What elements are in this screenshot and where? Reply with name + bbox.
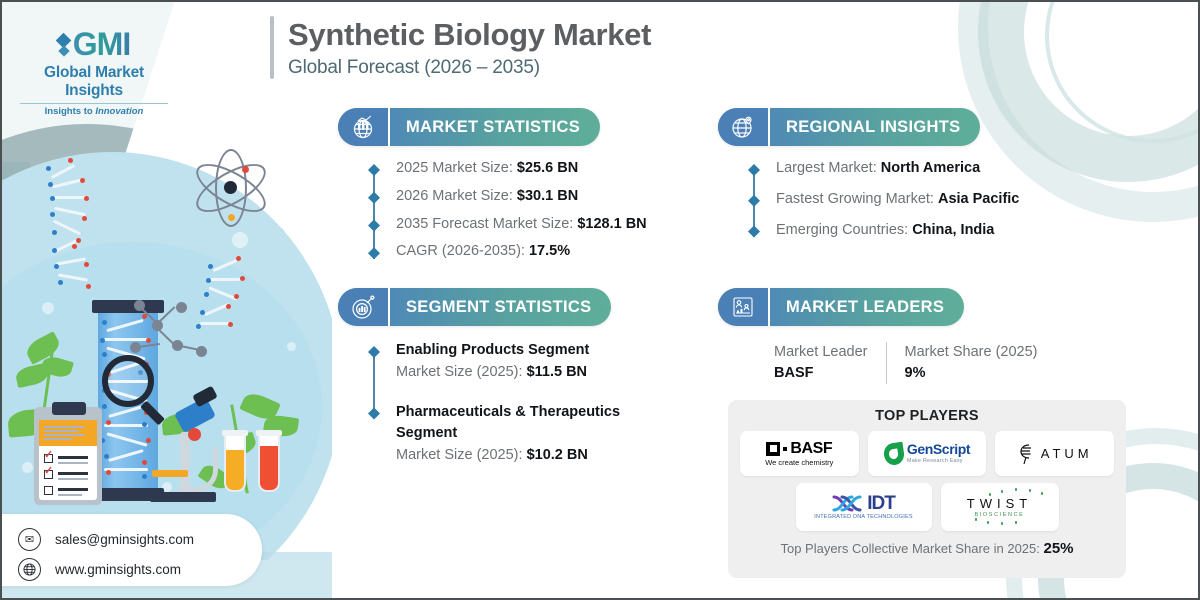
item-value: 17.5% [529,243,570,259]
logo-initials: GMI [73,26,130,63]
column-value: BASF [774,363,868,384]
page-title: Synthetic Biology Market [288,16,651,55]
contact-panel: ✉ sales@gminsights.com www.gminsights.co… [0,514,262,586]
top-players-row-2: IDT INTEGRATED DNA TECHNOLOGIES TWIST BI… [740,483,1114,531]
genscript-leaf-icon [882,441,905,466]
list-item: Emerging Countries: China, India [748,220,1148,242]
contact-email-row[interactable]: ✉ sales@gminsights.com [18,524,262,554]
column-header: Market Share (2025) [905,342,1038,363]
atum-swirl-icon [1017,443,1037,465]
player-tagline: Make Research Easy [907,459,970,465]
contact-email[interactable]: sales@gminsights.com [55,532,194,547]
podium-chart-icon [718,288,770,326]
list-item: 2035 Forecast Market Size: $128.1 BN [368,214,698,236]
item-value: $25.6 BN [517,160,578,176]
decor-ring-thin [1045,2,1198,143]
item-label: Market Size (2025): [396,364,527,380]
badge-label: SEGMENT STATISTICS [390,298,611,317]
logo-tagline: Insights to Innovation [14,106,174,117]
list-item: Enabling Products Segment Market Size (2… [368,340,698,384]
bullet-diamond-icon [368,220,380,232]
bullet-diamond-icon [368,164,380,176]
infographic-page: ✓ ✓ [0,0,1200,600]
twist-dot-icon [1041,492,1044,495]
list-item: 2025 Market Size: $25.6 BN [368,158,698,180]
item-label: 2026 Market Size: [396,188,517,204]
item-value: $10.2 BN [527,447,588,463]
list-segment-statistics: Enabling Products Segment Market Size (2… [368,340,698,473]
decor-ring-top-right [978,2,1198,182]
item-label: Fastest Growing Market: [776,191,938,207]
globe-chart-icon [338,108,390,146]
column-header: Market Leader [774,342,868,363]
twist-dot-icon [1029,489,1032,492]
list-market-statistics: 2025 Market Size: $25.6 BN 2026 Market S… [368,158,698,269]
top-players-title: TOP PLAYERS [740,408,1114,424]
player-tagline: INTEGRATED DNA TECHNOLOGIES [814,515,912,521]
top-players-footer: Top Players Collective Market Share in 2… [740,540,1114,557]
magnifier-icon [102,355,154,407]
badge-regional-insights[interactable]: REGIONAL INSIGHTS [718,108,980,146]
segment-heading: Enabling Products Segment [396,340,698,362]
twist-dot-icon [987,521,990,524]
illustration-scene: ✓ ✓ [2,152,332,512]
item-label: 2035 Forecast Market Size: [396,216,577,232]
market-leader-column: Market Leader BASF [774,342,886,384]
clipboard: ✓ ✓ [34,407,102,505]
bullet-diamond-icon [368,247,380,259]
player-tagline: We create chemistry [765,459,833,467]
diamond-icon [58,35,69,55]
bullet-diamond-icon [368,192,380,204]
list-item: Fastest Growing Market: Asia Pacific [748,189,1148,211]
footer-value: 25% [1043,540,1073,557]
logo-tagline-prefix: Insights to [45,106,96,117]
twist-dot-icon [1001,490,1004,493]
twist-dot-icon [1001,522,1004,525]
gmi-logo[interactable]: GMI Global Market Insights Insights to I… [14,26,174,117]
bullet-diamond-icon [368,408,380,420]
item-label: Emerging Countries: [776,222,912,238]
logo-mark: GMI [14,26,174,63]
top-players-row-1: BASF We create chemistry GenScript Make … [740,431,1114,476]
item-value: North America [881,160,980,176]
market-leaders-table: Market Leader BASF Market Share (2025) 9… [774,342,1055,384]
pie-chart-target-icon [338,288,390,326]
logo-divider [20,103,168,104]
list-item: 2026 Market Size: $30.1 BN [368,186,698,208]
item-value: $11.5 BN [527,364,587,380]
player-logo-twist[interactable]: TWIST BIOSCIENCE [941,483,1059,531]
item-value: Asia Pacific [938,191,1019,207]
contact-website-row[interactable]: www.gminsights.com [18,554,262,584]
badge-label: REGIONAL INSIGHTS [770,118,980,137]
player-tagline: BIOSCIENCE [967,512,1032,518]
contact-website[interactable]: www.gminsights.com [55,562,181,577]
player-logo-atum[interactable]: ATUM [995,431,1114,476]
item-label: CAGR (2026-2035): [396,243,529,259]
clipboard-clamp [52,402,86,415]
player-logo-basf[interactable]: BASF We create chemistry [740,431,859,476]
twist-dot-icon [1015,488,1018,491]
page-subtitle: Global Forecast (2026 – 2035) [288,57,651,79]
list-regional-insights: Largest Market: North America Fastest Gr… [748,158,1148,247]
globe-icon [18,558,41,581]
player-logo-genscript[interactable]: GenScript Make Research Easy [868,431,987,476]
logo-tagline-italic: Innovation [95,106,143,117]
top-players-card: TOP PLAYERS BASF We create chemistry [728,400,1126,578]
market-share-column: Market Share (2025) 9% [886,342,1056,384]
item-label: 2025 Market Size: [396,160,517,176]
list-item: Largest Market: North America [748,158,1148,180]
title-block: Synthetic Biology Market Global Forecast… [270,16,651,79]
badge-label: MARKET STATISTICS [390,118,600,137]
badge-segment-statistics[interactable]: SEGMENT STATISTICS [338,288,611,326]
basf-dot-icon [783,447,787,451]
badge-market-leaders[interactable]: MARKET LEADERS [718,288,964,326]
badge-label: MARKET LEADERS [770,298,964,317]
player-name: IDT [867,494,895,513]
footer-label: Top Players Collective Market Share in 2… [780,541,1043,556]
cylinder-cap-top [92,300,164,313]
logo-company-name: Global Market Insights [14,64,174,100]
player-name: BASF [790,441,832,457]
globe-pin-icon [718,108,770,146]
clipboard-header-band [39,420,97,446]
twist-dot-icon [1015,521,1018,524]
basf-square-icon [766,442,780,456]
player-name: ATUM [1041,446,1093,461]
item-value: $128.1 BN [577,216,646,232]
column-value: 9% [905,363,1038,384]
title-accent-bar [270,16,274,79]
player-logo-idt[interactable]: IDT INTEGRATED DNA TECHNOLOGIES [796,483,932,531]
twist-dot-icon [975,518,978,521]
item-label: Market Size (2025): [396,447,527,463]
segment-heading: Pharmaceuticals & Therapeutics Segment [396,402,656,446]
item-label: Largest Market: [776,160,881,176]
bullet-diamond-icon [748,164,760,176]
bullet-diamond-icon [748,226,760,238]
bullet-diamond-icon [368,346,380,358]
list-item: Pharmaceuticals & Therapeutics Segment M… [368,402,698,467]
item-value: $30.1 BN [517,188,578,204]
item-value: China, India [912,222,994,238]
list-item: CAGR (2026-2035): 17.5% [368,241,698,263]
badge-market-statistics[interactable]: MARKET STATISTICS [338,108,600,146]
bullet-diamond-icon [748,195,760,207]
player-name: GenScript [907,441,970,457]
idt-dna-icon [832,494,866,513]
envelope-icon: ✉ [18,528,41,551]
player-name: TWIST [967,496,1032,511]
